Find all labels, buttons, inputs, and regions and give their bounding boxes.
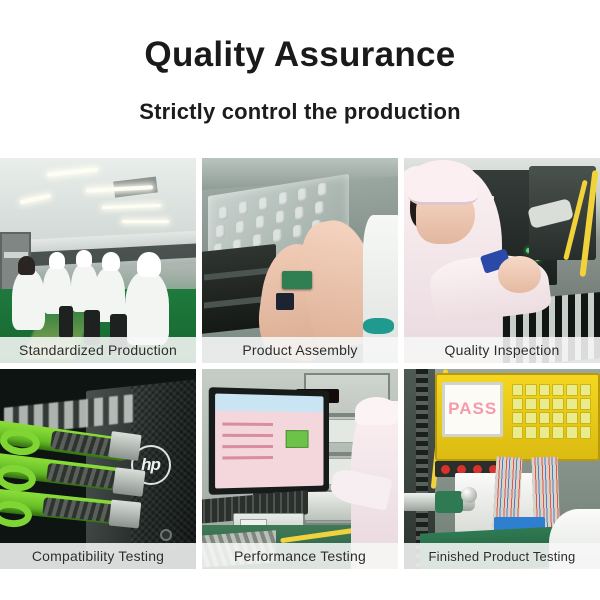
photo-product-assembly (202, 158, 398, 363)
page-subtitle: Strictly control the production (0, 99, 600, 125)
tile-caption: Standardized Production (0, 337, 196, 363)
gallery-tile-quality-inspection[interactable]: Quality Inspection (404, 158, 600, 363)
gallery-tile-compatibility-testing[interactable]: hp Compatibility Testing (0, 369, 196, 569)
gallery-tile-finished-product-testing[interactable]: PASS (404, 369, 600, 569)
pass-indicator-label: PASS (448, 399, 497, 419)
photo-finished-product-testing: PASS (404, 369, 600, 569)
gallery-tile-product-assembly[interactable]: Product Assembly (202, 158, 398, 363)
page-title: Quality Assurance (0, 36, 600, 75)
tile-caption: Compatibility Testing (0, 543, 196, 569)
gallery-tile-standardized-production[interactable]: Standardized Production (0, 158, 196, 363)
tile-caption: Performance Testing (202, 543, 398, 569)
process-gallery-grid: Standardized Production (0, 158, 600, 569)
tile-caption: Finished Product Testing (404, 543, 600, 569)
quality-assurance-page: Quality Assurance Strictly control the p… (0, 0, 600, 600)
photo-quality-inspection (404, 158, 600, 363)
tile-caption: Quality Inspection (404, 337, 600, 363)
photo-standardized-production (0, 158, 196, 363)
photo-compatibility-testing: hp (0, 369, 196, 569)
gallery-tile-performance-testing[interactable]: Performance Testing (202, 369, 398, 569)
page-header: Quality Assurance Strictly control the p… (0, 0, 600, 125)
photo-performance-testing (202, 369, 398, 569)
tile-caption: Product Assembly (202, 337, 398, 363)
